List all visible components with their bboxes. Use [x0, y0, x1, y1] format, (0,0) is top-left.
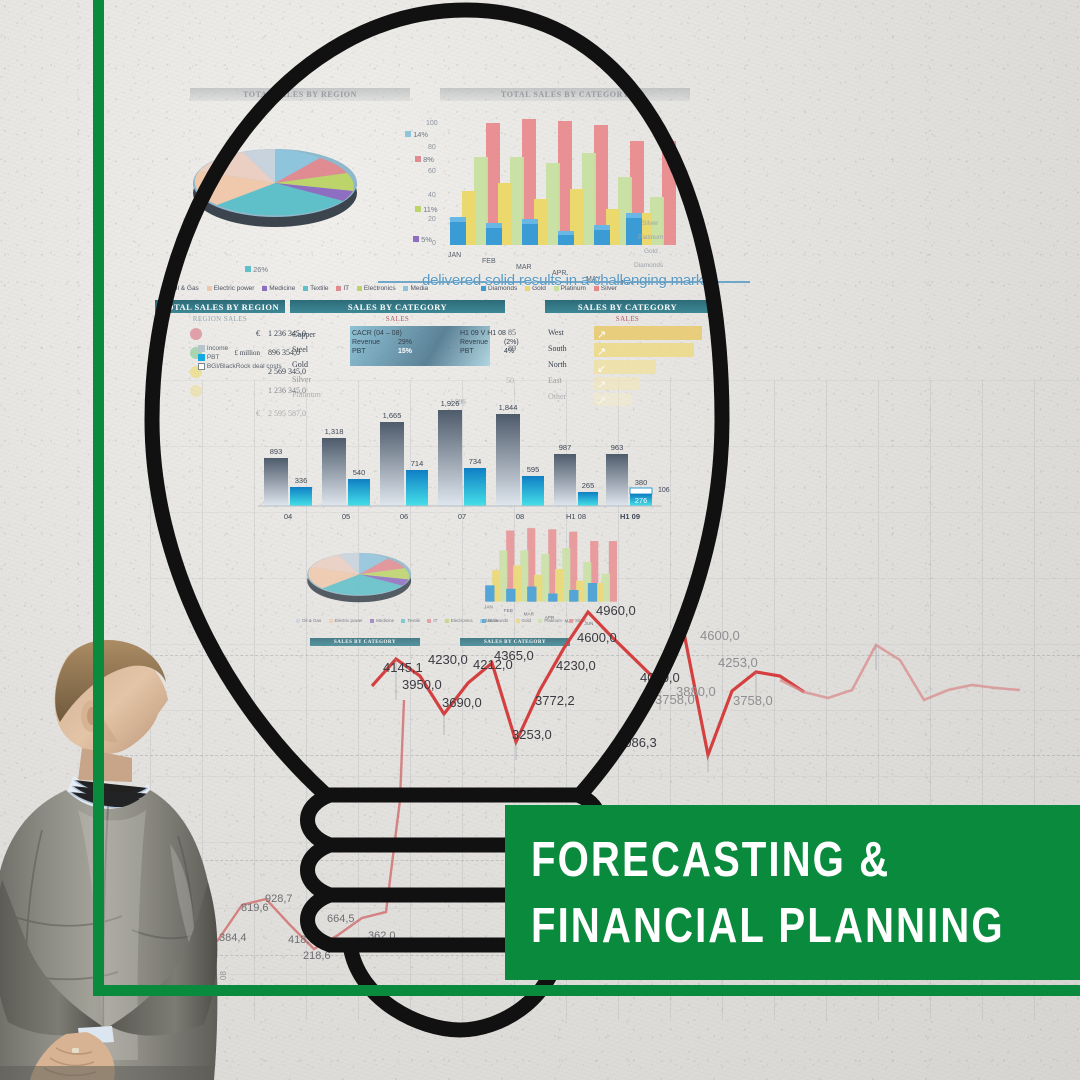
title-banner: FORECASTING & FINANCIAL PLANNING [505, 805, 1080, 980]
title-line-2: FINANCIAL PLANNING [531, 893, 981, 959]
ring [72, 1048, 79, 1053]
businessman-silhouette [0, 630, 242, 1080]
title-line-1: FORECASTING & [531, 827, 981, 893]
accent-frame-horizontal [93, 985, 1080, 996]
accent-frame-vertical [93, 0, 104, 996]
trousers [0, 1066, 214, 1080]
poster-canvas: TOTAL SALES BY REGION TOTAL SALES BY CAT… [0, 0, 1080, 1080]
neck [78, 748, 132, 782]
